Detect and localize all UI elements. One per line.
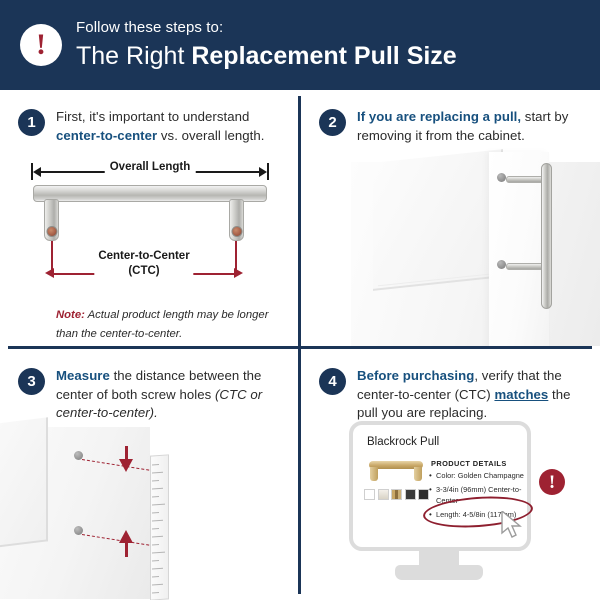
mouse-cursor-icon <box>501 511 525 546</box>
diagram-note: Note: Actual product length may be longe… <box>56 306 271 342</box>
pull-measurement-diagram: Overall Length Center-to-Center <box>0 161 298 331</box>
ctc-arrow-right <box>234 268 243 278</box>
measure-illustration <box>0 435 298 600</box>
product-thumbnail[interactable] <box>405 489 416 500</box>
header-banner: ! Follow these steps to: The Right Repla… <box>0 0 600 90</box>
product-title: Blackrock Pull <box>367 436 439 448</box>
product-thumbnail[interactable] <box>391 489 402 500</box>
note-prefix: Note: <box>56 309 85 321</box>
step-1-line1: First, it's important to understand <box>56 109 249 124</box>
step-panel-4: 4 Before purchasing, verify that the cen… <box>301 349 600 600</box>
infographic-page: ! Follow these steps to: The Right Repla… <box>0 0 600 600</box>
step-3-number: 3 <box>18 368 45 395</box>
overall-length-dimension: Overall Length <box>30 163 270 179</box>
exclamation-glyph: ! <box>36 30 46 60</box>
measure-arrow-down-icon <box>119 459 133 472</box>
step-1-highlight: center-to-center <box>56 128 157 143</box>
page-title-light: The Right <box>76 42 191 70</box>
screw-hole-left <box>46 226 57 237</box>
product-pull-leg-left <box>370 467 378 481</box>
warning-glyph: ! <box>549 473 555 492</box>
step-2-number: 2 <box>319 109 346 136</box>
product-details-heading: PRODUCT DETAILS <box>431 459 507 468</box>
ctc-arrow-left <box>45 268 54 278</box>
cabinet-door-recess-inner <box>378 156 498 287</box>
pull-bar-vertical <box>541 163 552 309</box>
note-text: Actual product length may be longer than… <box>56 309 268 339</box>
ctc-dimension: Center-to-Center (CTC) <box>44 265 244 283</box>
monitor-screen: Blackrock Pull PRODUCT DETAILS <box>349 421 531 551</box>
step-panel-3: 3 Measure the distance between the cente… <box>0 349 298 600</box>
product-detail-item: Color: Golden Champagne <box>429 471 534 482</box>
pull-post-right <box>229 199 244 241</box>
header-kicker: Follow these steps to: <box>76 19 457 38</box>
steps-grid: 1 First, it's important to understand ce… <box>0 90 600 600</box>
measure-arrow-up-icon <box>119 530 133 543</box>
overall-length-arrow-right <box>259 167 267 177</box>
screw-hole-right <box>231 226 242 237</box>
ctc-label: Center-to-Center (CTC) <box>94 249 193 278</box>
step-4-text: Before purchasing, verify that the cente… <box>357 367 586 423</box>
step-4-matches-link[interactable]: matches <box>494 387 548 402</box>
step-4-highlight: Before purchasing <box>357 368 474 383</box>
ctc-label-line1: Center-to-Center <box>98 250 189 262</box>
overall-length-tick-right <box>267 163 269 180</box>
product-thumbnail[interactable] <box>418 489 429 500</box>
step-3-text: Measure the distance between the center … <box>56 367 284 423</box>
page-title: The Right Replacement Pull Size <box>76 41 457 71</box>
monitor-stand-base <box>395 565 483 580</box>
step-4-head: 4 Before purchasing, verify that the cen… <box>301 349 600 423</box>
measure-door-recess <box>0 417 48 549</box>
pull-post-left <box>44 199 59 241</box>
step-panel-2: 2 If you are replacing a pull, start by … <box>301 90 600 346</box>
overall-length-label: Overall Length <box>105 161 196 173</box>
cabinet-screw-hole-bottom <box>497 260 506 269</box>
step-panel-1: 1 First, it's important to understand ce… <box>0 90 298 346</box>
product-image <box>365 458 427 484</box>
step-1-text: First, it's important to understand cent… <box>56 108 284 145</box>
step-2-head: 2 If you are replacing a pull, start by … <box>301 90 600 145</box>
step-1-number: 1 <box>18 109 45 136</box>
step-2-highlight: If you are replacing a pull, <box>357 109 521 124</box>
overall-length-arrow-left <box>33 167 41 177</box>
step-3-head: 3 Measure the distance between the cente… <box>0 349 298 423</box>
product-thumbnail[interactable] <box>364 489 375 500</box>
header-text-block: Follow these steps to: The Right Replace… <box>76 19 457 71</box>
ctc-label-line2: (CTC) <box>128 265 159 277</box>
cabinet-screw-hole-top <box>497 173 506 182</box>
exclamation-icon: ! <box>20 24 62 66</box>
step-1-line2: vs. overall length. <box>157 128 264 143</box>
step-1-head: 1 First, it's important to understand ce… <box>0 90 298 145</box>
step-4-number: 4 <box>319 368 346 395</box>
monitor-illustration: Blackrock Pull PRODUCT DETAILS <box>341 421 571 600</box>
cabinet-door-removal-illustration <box>301 162 600 346</box>
warning-exclamation-icon: ! <box>539 469 565 495</box>
product-thumbnail[interactable] <box>378 489 389 500</box>
product-thumbnail-strip[interactable] <box>364 489 429 500</box>
step-2-text: If you are replacing a pull, start by re… <box>357 108 586 145</box>
measure-arrow-stem-bottom <box>125 541 128 557</box>
page-title-bold: Replacement Pull Size <box>191 42 456 70</box>
product-pull-leg-right <box>414 467 422 481</box>
ruler-icon <box>150 454 169 600</box>
step-3-highlight: Measure <box>56 368 110 383</box>
